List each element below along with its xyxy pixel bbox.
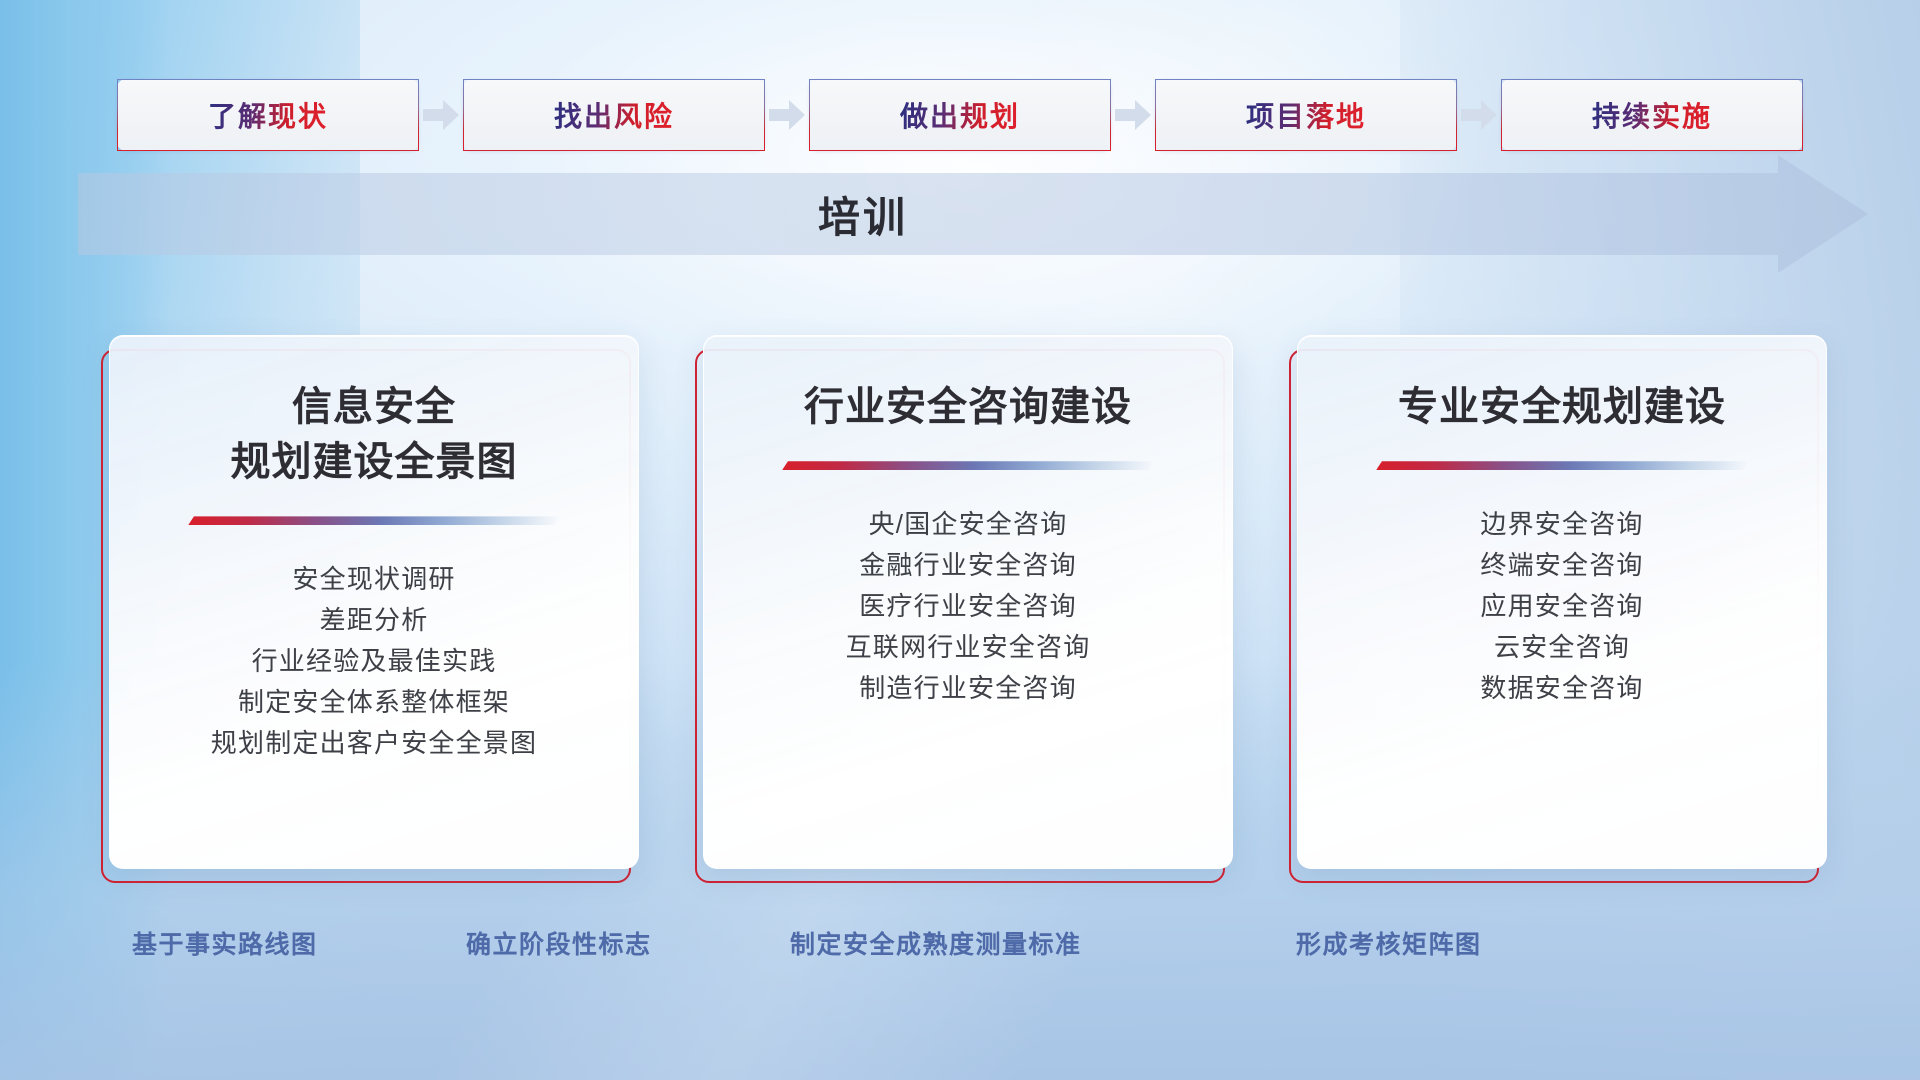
stage-label-5: 持续实施 bbox=[1592, 95, 1712, 135]
list-item: 云安全咨询 bbox=[1494, 627, 1630, 668]
list-item: 应用安全咨询 bbox=[1480, 586, 1643, 627]
stage-box-3[interactable]: 做出规划 bbox=[809, 79, 1111, 151]
list-item: 安全现状调研 bbox=[292, 559, 455, 600]
caption-1: 基于事实路线图 bbox=[132, 925, 318, 961]
list-item: 制造行业安全咨询 bbox=[859, 668, 1077, 709]
card-title-2: 行业安全咨询建设 bbox=[804, 380, 1132, 435]
stage-arrow-icon-4 bbox=[1457, 79, 1501, 151]
card-wrap-1: 信息安全 规划建设全景图 安全现状调研 差距分析 行业经验及最佳实践 制定安全体… bbox=[101, 335, 631, 883]
card-2[interactable]: 行业安全咨询建设 央/国企安全咨询 金融行业安全咨询 医疗行业安全咨询 互联网行… bbox=[703, 335, 1233, 869]
stage-arrow-icon-3 bbox=[1111, 79, 1155, 151]
training-banner-label: 培训 bbox=[818, 184, 908, 245]
list-item: 数据安全咨询 bbox=[1480, 668, 1643, 709]
stage-arrow-icon-2 bbox=[765, 79, 809, 151]
card-list-2: 央/国企安全咨询 金融行业安全咨询 医疗行业安全咨询 互联网行业安全咨询 制造行… bbox=[704, 504, 1232, 709]
list-item: 金融行业安全咨询 bbox=[859, 545, 1077, 586]
caption-2: 确立阶段性标志 bbox=[466, 925, 652, 961]
list-item: 边界安全咨询 bbox=[1480, 504, 1643, 545]
card-wrap-3: 专业安全规划建设 边界安全咨询 终端安全咨询 应用安全咨询 云安全咨询 数据安全… bbox=[1289, 335, 1819, 883]
list-item: 规划制定出客户安全全景图 bbox=[211, 723, 537, 764]
training-banner: 培训 bbox=[78, 155, 1868, 273]
card-divider-2 bbox=[782, 461, 1154, 470]
card-divider-3 bbox=[1376, 461, 1748, 470]
card-divider-1 bbox=[188, 516, 560, 525]
service-cards: 信息安全 规划建设全景图 安全现状调研 差距分析 行业经验及最佳实践 制定安全体… bbox=[0, 335, 1920, 885]
list-item: 差距分析 bbox=[320, 600, 429, 641]
list-item: 行业经验及最佳实践 bbox=[252, 641, 497, 682]
caption-4: 形成考核矩阵图 bbox=[1296, 925, 1482, 961]
outcome-captions: 基于事实路线图 确立阶段性标志 制定安全成熟度测量标准 形成考核矩阵图 bbox=[0, 925, 1920, 975]
card-1[interactable]: 信息安全 规划建设全景图 安全现状调研 差距分析 行业经验及最佳实践 制定安全体… bbox=[109, 335, 639, 869]
list-item: 制定安全体系整体框架 bbox=[238, 682, 510, 723]
stage-flow-row: 了解现状 找出风险 做出规划 项目落地 持续实施 bbox=[0, 76, 1920, 154]
stage-label-2: 找出风险 bbox=[554, 95, 674, 135]
list-item: 互联网行业安全咨询 bbox=[846, 627, 1091, 668]
stage-box-4[interactable]: 项目落地 bbox=[1155, 79, 1457, 151]
stage-box-2[interactable]: 找出风险 bbox=[463, 79, 765, 151]
card-3[interactable]: 专业安全规划建设 边界安全咨询 终端安全咨询 应用安全咨询 云安全咨询 数据安全… bbox=[1297, 335, 1827, 869]
stage-label-1: 了解现状 bbox=[208, 95, 328, 135]
list-item: 医疗行业安全咨询 bbox=[859, 586, 1077, 627]
card-title-3: 专业安全规划建设 bbox=[1398, 380, 1726, 435]
list-item: 央/国企安全咨询 bbox=[869, 504, 1068, 545]
stage-label-3: 做出规划 bbox=[900, 95, 1020, 135]
stage-label-4: 项目落地 bbox=[1246, 95, 1366, 135]
card-list-3: 边界安全咨询 终端安全咨询 应用安全咨询 云安全咨询 数据安全咨询 bbox=[1298, 504, 1826, 709]
caption-3: 制定安全成熟度测量标准 bbox=[790, 925, 1082, 961]
training-banner-label-wrap: 培训 bbox=[78, 155, 1868, 273]
card-list-1: 安全现状调研 差距分析 行业经验及最佳实践 制定安全体系整体框架 规划制定出客户… bbox=[110, 559, 638, 764]
list-item: 终端安全咨询 bbox=[1480, 545, 1643, 586]
stage-arrow-icon-1 bbox=[419, 79, 463, 151]
stage-box-5[interactable]: 持续实施 bbox=[1501, 79, 1803, 151]
stage-box-1[interactable]: 了解现状 bbox=[117, 79, 419, 151]
card-wrap-2: 行业安全咨询建设 央/国企安全咨询 金融行业安全咨询 医疗行业安全咨询 互联网行… bbox=[695, 335, 1225, 883]
card-title-1: 信息安全 规划建设全景图 bbox=[231, 380, 518, 490]
